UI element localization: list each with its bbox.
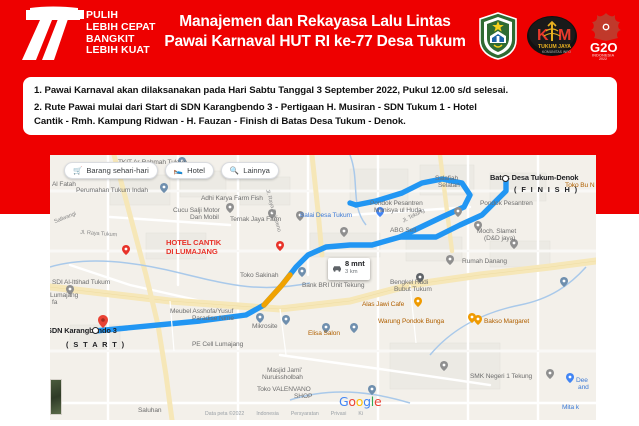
- start-location-pin-icon[interactable]: [98, 315, 108, 328]
- title-line-2: Pawai Karnaval HUT RI ke-77 Desa Tukum: [150, 32, 480, 52]
- map-label: Toko Sakinah: [240, 272, 278, 280]
- start-label: SDN Karangbendo 3: [50, 327, 117, 335]
- chip-lainnya[interactable]: 🔍 Lainnya: [221, 162, 279, 179]
- logo-77-icon: [22, 6, 84, 62]
- map-label: Nuruissholbah: [262, 374, 303, 382]
- poster-root: PULIH LEBIH CEPAT BANGKIT LEBIH KUAT Man…: [0, 0, 639, 426]
- poi-pin-masjid-jami[interactable]: [440, 361, 448, 371]
- poi-pin-dee[interactable]: [566, 373, 574, 383]
- cart-icon: 🛒: [73, 167, 82, 175]
- map-label: Balai Desa Tukum: [300, 212, 352, 220]
- map-label: Bubut Tukum: [394, 286, 432, 294]
- poi-pin-toko-sakinah[interactable]: [298, 267, 306, 277]
- map-label: Alas Jawi Cafe: [362, 301, 404, 309]
- chip-label: Barang sehari-hari: [86, 166, 148, 175]
- attribution-feedback[interactable]: Ki: [358, 411, 363, 417]
- map-label: Al Fatah: [52, 181, 76, 189]
- car-icon: [332, 260, 342, 278]
- map-label: SDI Al-Ittihad Tukum: [52, 279, 110, 287]
- poi-pin-generic-2[interactable]: [560, 277, 568, 287]
- svg-text:K: K: [537, 27, 549, 44]
- kim-emblem: K M TUKUM JAYA KOMUNITAS INFO: [526, 15, 578, 57]
- map-label: SMK Negeri 1 Tekung: [470, 373, 532, 381]
- travel-distance: 3 km: [345, 268, 365, 276]
- map-label: Mikrosite: [252, 323, 277, 331]
- chip-barang-sehari-hari[interactable]: 🛒 Barang sehari-hari: [64, 162, 158, 179]
- map-label: Bakso Margaret: [484, 318, 529, 326]
- map-label: (D&D jaya): [484, 235, 515, 243]
- map-label: Bank BRI Unit Tekung: [302, 282, 364, 290]
- travel-time-badge[interactable]: 8 mnt 3 km: [328, 258, 370, 280]
- tagline-line-2: LEBIH CEPAT: [86, 22, 156, 34]
- poi-pin-hotel-cantik[interactable]: [122, 245, 130, 255]
- poi-pin-cucu-salji[interactable]: [226, 203, 234, 213]
- poi-pin-paradise-nime[interactable]: [282, 315, 290, 325]
- poi-pin-meubel-asshofa[interactable]: [256, 313, 264, 323]
- chip-label: Lainnya: [243, 166, 270, 175]
- map-filter-chips[interactable]: 🛒 Barang sehari-hari 🛌 Hotel 🔍 Lainnya: [64, 162, 279, 179]
- map-label: ABG Sell: [390, 227, 416, 235]
- tagline-line-4: LEBIH KUAT: [86, 45, 156, 57]
- hotel-cantik-label: HOTEL CANTIK DI LUMAJANG: [166, 239, 221, 256]
- google-logo: Google: [339, 394, 381, 409]
- map-label: PE Cell Lumajang: [192, 341, 243, 349]
- route-finish-endpoint[interactable]: [502, 175, 509, 182]
- map-label: Warung Pondok Bunga: [378, 318, 444, 326]
- hotel-cantik-line-2: DI LUMAJANG: [166, 248, 221, 257]
- map-attribution: Data peta ©2022 Indonesia Persyaratan Pr…: [205, 411, 363, 417]
- kabupaten-lumajang-emblem: [478, 12, 518, 60]
- attribution-copyright: Data peta ©2022: [205, 411, 244, 417]
- map-view[interactable]: 🛒 Barang sehari-hari 🛌 Hotel 🔍 Lainnya: [50, 155, 596, 420]
- google-letter-g2: g: [363, 394, 371, 409]
- page-title: Manajemen dan Rekayasa Lalu Lintas Pawai…: [150, 12, 480, 52]
- poi-pin-smk-negeri[interactable]: [546, 369, 554, 379]
- route-start-endpoint[interactable]: [92, 327, 99, 334]
- svg-text:KOMUNITAS INFO: KOMUNITAS INFO: [542, 50, 571, 54]
- map-label: Selatan: [438, 182, 460, 190]
- map-label: Elisa Salon: [308, 330, 340, 338]
- announcement-box: 1. Pawai Karnaval akan dilaksanakan pada…: [23, 77, 617, 135]
- map-label: Pondok Pesantren: [480, 200, 533, 208]
- map-label: and: [578, 384, 589, 392]
- announcement-line-1: 1. Pawai Karnaval akan dilaksanakan pada…: [34, 84, 606, 97]
- announcement-line-3: Cantik - Rmh. Kampung Ridwan - H. Fauzan…: [34, 115, 606, 128]
- chip-label: Hotel: [187, 166, 205, 175]
- travel-duration: 8 mnt: [345, 260, 365, 268]
- map-label: fa: [52, 299, 57, 307]
- attribution-country[interactable]: Indonesia: [256, 411, 279, 417]
- search-icon: 🔍: [230, 167, 239, 175]
- poi-pin-hotel-marker[interactable]: [276, 241, 284, 251]
- poi-pin-alas-jawi-cafe[interactable]: [414, 297, 422, 307]
- attribution-privacy[interactable]: Privasi: [331, 411, 347, 417]
- map-label: Adhi Karya Farm Fish: [201, 195, 263, 203]
- hotel-icon: 🛌: [174, 167, 183, 175]
- map-label: Rumah Danang: [462, 258, 507, 266]
- map-label: Mita k: [562, 404, 579, 412]
- google-letter-o1: o: [348, 394, 355, 409]
- map-label: SHOP: [294, 393, 312, 401]
- map-label: Paradise Nime: [192, 315, 234, 323]
- title-line-1: Manajemen dan Rekayasa Lalu Lintas: [150, 12, 480, 32]
- google-letter-g1: G: [339, 394, 348, 409]
- svg-text:2022: 2022: [599, 57, 607, 61]
- finish-tag: ( F I N I S H ): [514, 186, 579, 194]
- logo-tagline: PULIH LEBIH CEPAT BANGKIT LEBIH KUAT: [86, 10, 156, 57]
- poi-pin-bakso-margaret[interactable]: [474, 315, 482, 325]
- emblem-group: K M TUKUM JAYA KOMUNITAS INFO G2O INDONE…: [478, 9, 634, 63]
- announcement-line-2: 2. Rute Pawai mulai dari Start di SDN Ka…: [34, 101, 606, 114]
- travel-time-text: 8 mnt 3 km: [345, 260, 365, 276]
- poi-pin-perumahan[interactable]: [160, 183, 168, 193]
- map-label: Perumahan Tukum Indah: [76, 187, 148, 195]
- start-tag: ( S T A R T ): [66, 341, 126, 349]
- poi-pin-elisa-salon[interactable]: [350, 323, 358, 333]
- street-view-thumbnail[interactable]: [50, 379, 62, 415]
- map-label: Saluhan: [138, 407, 162, 415]
- poi-pin-pondok-pesantren[interactable]: [340, 227, 348, 237]
- poi-pin-rumah-danang[interactable]: [446, 255, 454, 265]
- chip-hotel[interactable]: 🛌 Hotel: [165, 162, 214, 179]
- g20-emblem: G2O INDONESIA 2022: [586, 11, 626, 61]
- google-letter-e: e: [374, 394, 381, 409]
- poi-pin-abg-sell[interactable]: [454, 207, 462, 217]
- attribution-terms[interactable]: Persyaratan: [291, 411, 319, 417]
- google-letter-o2: o: [356, 394, 363, 409]
- map-label: Dan Mobil: [190, 214, 219, 222]
